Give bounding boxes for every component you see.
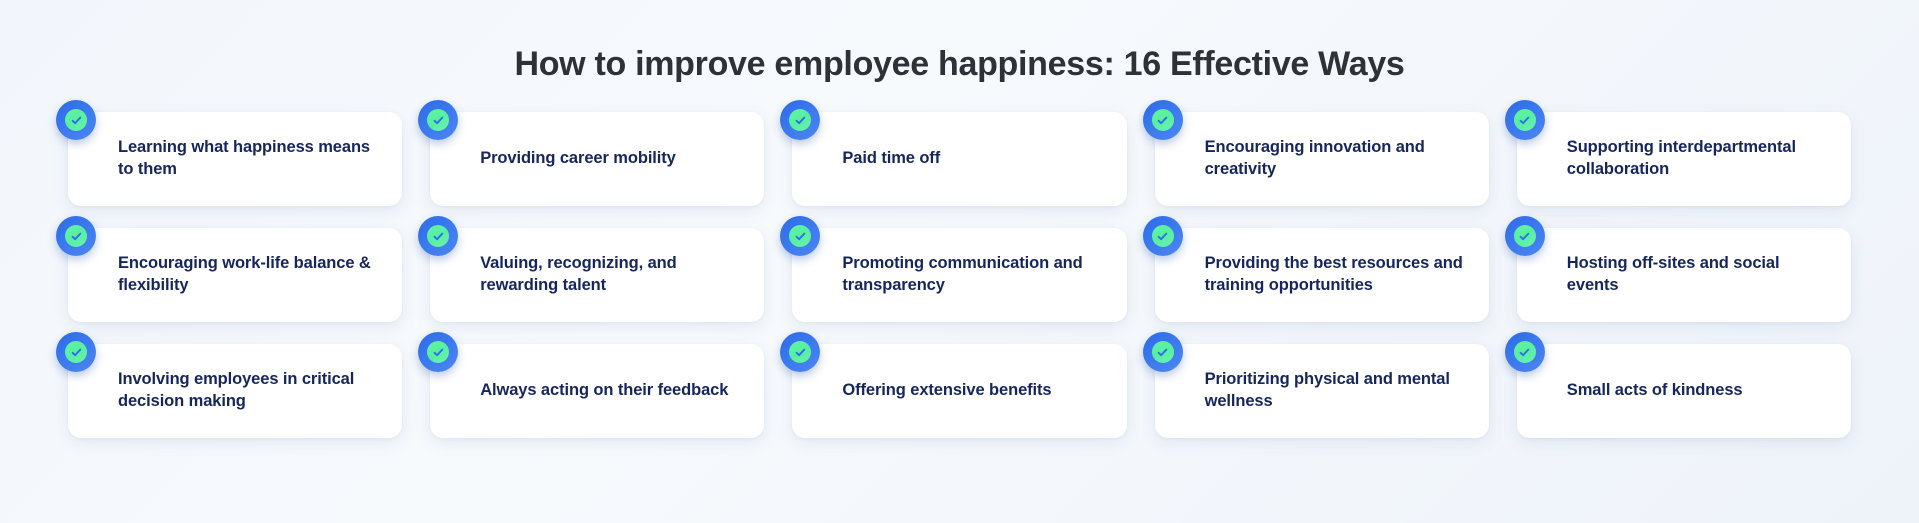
tip-card-label: Encouraging work-life balance & flexibil… xyxy=(118,253,384,297)
tip-card-label: Promoting communication and transparency xyxy=(842,253,1108,297)
infographic-page: How to improve employee happiness: 16 Ef… xyxy=(0,0,1919,523)
check-circle-icon xyxy=(1505,216,1545,256)
tip-card[interactable]: Always acting on their feedback xyxy=(430,344,764,438)
check-circle-icon xyxy=(1143,100,1183,140)
check-mark-icon xyxy=(427,225,449,247)
check-mark-icon xyxy=(1152,341,1174,363)
tip-card[interactable]: Valuing, recognizing, and rewarding tale… xyxy=(430,228,764,322)
check-circle-icon xyxy=(780,100,820,140)
check-mark-icon xyxy=(1514,341,1536,363)
check-circle-icon xyxy=(1143,332,1183,372)
check-circle-icon xyxy=(56,332,96,372)
check-mark-icon xyxy=(1152,109,1174,131)
tip-card[interactable]: Encouraging innovation and creativity xyxy=(1155,112,1489,206)
check-mark-icon xyxy=(1514,225,1536,247)
check-circle-icon xyxy=(1143,216,1183,256)
tip-card[interactable]: Promoting communication and transparency xyxy=(792,228,1126,322)
check-circle-icon xyxy=(418,100,458,140)
check-circle-icon xyxy=(56,100,96,140)
check-mark-icon xyxy=(1152,225,1174,247)
tip-card-label: Learning what happiness means to them xyxy=(118,137,384,181)
check-circle-icon xyxy=(1505,100,1545,140)
tip-card-label: Hosting off-sites and social events xyxy=(1567,253,1833,297)
tip-card-label: Encouraging innovation and creativity xyxy=(1205,137,1471,181)
check-circle-icon xyxy=(418,332,458,372)
page-title: How to improve employee happiness: 16 Ef… xyxy=(0,0,1919,85)
check-mark-icon xyxy=(427,109,449,131)
check-mark-icon xyxy=(789,225,811,247)
tip-card[interactable]: Hosting off-sites and social events xyxy=(1517,228,1851,322)
check-circle-icon xyxy=(780,332,820,372)
tip-card-label: Always acting on their feedback xyxy=(480,380,728,402)
tip-card-label: Small acts of kindness xyxy=(1567,380,1743,402)
check-mark-icon xyxy=(65,225,87,247)
tip-card-label: Providing the best resources and trainin… xyxy=(1205,253,1471,297)
tip-card-label: Supporting interdepartmental collaborati… xyxy=(1567,137,1833,181)
tip-card[interactable]: Providing the best resources and trainin… xyxy=(1155,228,1489,322)
tip-card[interactable]: Paid time off xyxy=(792,112,1126,206)
check-circle-icon xyxy=(1505,332,1545,372)
check-circle-icon xyxy=(418,216,458,256)
tip-card[interactable]: Prioritizing physical and mental wellnes… xyxy=(1155,344,1489,438)
tip-card[interactable]: Supporting interdepartmental collaborati… xyxy=(1517,112,1851,206)
tip-card[interactable]: Small acts of kindness xyxy=(1517,344,1851,438)
check-circle-icon xyxy=(56,216,96,256)
tip-card-label: Providing career mobility xyxy=(480,148,676,170)
tip-card-label: Offering extensive benefits xyxy=(842,380,1051,402)
tip-card-label: Prioritizing physical and mental wellnes… xyxy=(1205,369,1471,413)
tip-card[interactable]: Encouraging work-life balance & flexibil… xyxy=(68,228,402,322)
tip-card-label: Valuing, recognizing, and rewarding tale… xyxy=(480,253,746,297)
check-mark-icon xyxy=(789,341,811,363)
check-mark-icon xyxy=(427,341,449,363)
tip-card[interactable]: Providing career mobility xyxy=(430,112,764,206)
check-mark-icon xyxy=(789,109,811,131)
tip-card-label: Paid time off xyxy=(842,148,940,170)
check-mark-icon xyxy=(65,341,87,363)
tip-card[interactable]: Learning what happiness means to them xyxy=(68,112,402,206)
check-mark-icon xyxy=(65,109,87,131)
check-mark-icon xyxy=(1514,109,1536,131)
check-circle-icon xyxy=(780,216,820,256)
tip-card[interactable]: Involving employees in critical decision… xyxy=(68,344,402,438)
tip-card-label: Involving employees in critical decision… xyxy=(118,369,384,413)
cards-grid: Learning what happiness means to themPro… xyxy=(68,112,1851,438)
tip-card[interactable]: Offering extensive benefits xyxy=(792,344,1126,438)
